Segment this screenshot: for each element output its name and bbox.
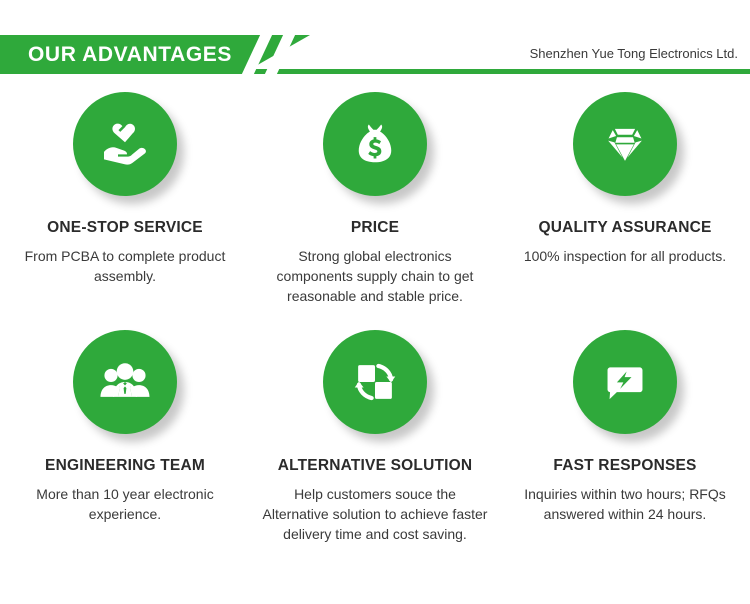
- advantage-title: ALTERNATIVE SOLUTION: [278, 456, 473, 476]
- advantage-description: Inquiries within two hours; RFQs answere…: [513, 484, 738, 524]
- advantage-description: More than 10 year electronic experience.: [13, 484, 238, 524]
- advantage-title: PRICE: [351, 218, 399, 238]
- exchange-squares-icon: [348, 355, 402, 409]
- money-bag-icon: [349, 118, 401, 170]
- advantage-card-engineering-team: ENGINEERING TEAM More than 10 year elect…: [0, 312, 250, 550]
- icon-badge: [323, 330, 427, 434]
- page-title: OUR ADVANTAGES: [28, 41, 232, 69]
- chat-bolt-icon: [599, 356, 651, 408]
- icon-badge: [573, 92, 677, 196]
- company-name: Shenzhen Yue Tong Electronics Ltd.: [530, 46, 738, 61]
- icon-badge: [73, 92, 177, 196]
- icon-badge: [323, 92, 427, 196]
- advantage-title: QUALITY ASSURANCE: [538, 218, 711, 238]
- icon-badge: [73, 330, 177, 434]
- page-header: OUR ADVANTAGES Shenzhen Yue Tong Electro…: [0, 0, 750, 74]
- hand-heart-icon: [97, 116, 153, 172]
- team-people-icon: [97, 354, 153, 410]
- advantage-card-alternative-solution: ALTERNATIVE SOLUTION Help customers souc…: [250, 312, 500, 550]
- advantage-card-quality-assurance: QUALITY ASSURANCE 100% inspection for al…: [500, 92, 750, 312]
- advantage-card-one-stop-service: ONE-STOP SERVICE From PCBA to complete p…: [0, 92, 250, 312]
- advantage-title: FAST RESPONSES: [553, 456, 696, 476]
- advantage-card-fast-responses: FAST RESPONSES Inquiries within two hour…: [500, 312, 750, 550]
- advantage-title: ENGINEERING TEAM: [45, 456, 205, 476]
- advantage-description: Strong global electronics components sup…: [263, 246, 488, 306]
- advantage-description: Help customers souce the Alternative sol…: [263, 484, 488, 544]
- diamond-icon: [598, 117, 652, 171]
- icon-badge: [573, 330, 677, 434]
- advantage-title: ONE-STOP SERVICE: [47, 218, 203, 238]
- advantage-card-price: PRICE Strong global electronics componen…: [250, 92, 500, 312]
- advantage-description: From PCBA to complete product assembly.: [13, 246, 238, 286]
- advantages-grid: ONE-STOP SERVICE From PCBA to complete p…: [0, 74, 750, 550]
- advantage-description: 100% inspection for all products.: [524, 246, 726, 266]
